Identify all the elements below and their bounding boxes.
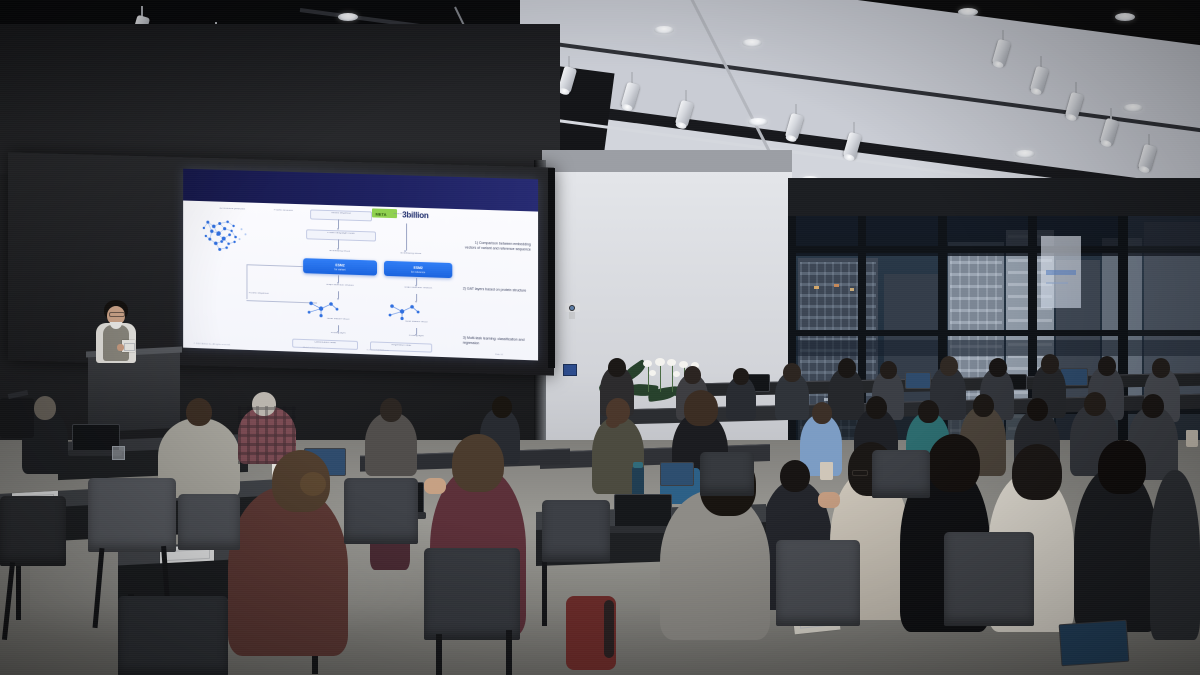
coffee-cup: [1186, 430, 1198, 447]
conference-camera-icon: [565, 303, 580, 312]
protein-structure-graph: [194, 212, 263, 262]
flow-node: Protein sequence: [232, 290, 285, 299]
flow-node-label: Graph attention network: [311, 284, 369, 289]
lit-window: [834, 284, 839, 287]
attendee-head: [1152, 358, 1170, 378]
orchid-bloom: [667, 359, 676, 366]
presentation-slide: 1. Model Architecture META 3billion: [183, 169, 538, 361]
flow-node-label: Reference sequence: [385, 213, 426, 217]
chair: [944, 532, 1034, 626]
flow-node: Reference sequence: [384, 212, 427, 222]
flow-node: Graph attention network: [310, 283, 370, 292]
flow-node-label: Graph attention network: [389, 286, 448, 291]
model-box-subtitle: for variant: [303, 267, 377, 272]
recessed-downlight: [1115, 13, 1135, 21]
recessed-downlight: [338, 13, 358, 21]
window-header-soffit: [788, 178, 1200, 216]
recessed-downlight: [742, 39, 762, 47]
chair: [872, 450, 930, 498]
recessed-downlight: [1123, 104, 1143, 112]
laptop: [905, 372, 931, 389]
flow-arrow: [416, 328, 417, 334]
attendee-head: [380, 398, 402, 422]
slide-footer-contact: ai-research@3billion.io: [367, 349, 389, 352]
flow-node-label: Embedding vector: [382, 252, 441, 257]
flow-arrow: [416, 278, 417, 285]
slide-footer-section: Model architecture: [303, 347, 321, 350]
orchid-bloom: [673, 371, 680, 377]
attendee-head: [880, 361, 897, 379]
recessed-downlight: [958, 8, 978, 16]
flow-node: Pooling layer: [388, 333, 445, 341]
coffee-cup: [820, 462, 833, 480]
glass-reflection-detail: [1046, 270, 1076, 275]
attendee-head: [780, 460, 810, 492]
flow-connector: [246, 264, 302, 266]
attendee-head: [783, 363, 801, 382]
flow-arrow: [416, 294, 417, 301]
lit-window: [850, 288, 854, 291]
attendee-hair-bun: [300, 472, 326, 496]
attendee-head: [989, 358, 1007, 377]
presenter-hand: [117, 344, 124, 351]
presenter: [86, 300, 146, 362]
attendee-head: [973, 394, 994, 417]
orchid-stem: [672, 363, 673, 392]
attendee-hand: [818, 492, 840, 508]
chair: [776, 540, 860, 626]
chair: [700, 452, 754, 496]
chair: [178, 494, 240, 550]
orchid-bloom: [649, 370, 656, 376]
attendee-head: [1098, 356, 1116, 376]
lit-window: [814, 286, 819, 289]
screen-bezel: [548, 168, 555, 368]
flow-node-label: Pooling layer: [311, 331, 366, 336]
flow-node-label: Protein language model: [308, 231, 373, 236]
wall-soffit: [542, 150, 792, 172]
flow-node: Embedding vector: [381, 251, 442, 260]
attendee-head: [866, 396, 887, 419]
attendee-head: [812, 402, 832, 424]
chair: [344, 478, 418, 544]
recessed-downlight: [748, 118, 768, 126]
flow-node-label: Regression head: [372, 344, 431, 349]
presenter-glasses-icon: [109, 312, 125, 317]
model-box-subtitle: for reference: [384, 270, 452, 275]
attendee-hair: [1012, 444, 1062, 500]
flow-node-label: Embedding vector: [307, 249, 372, 254]
bottle-cap: [633, 462, 643, 468]
recessed-downlight: [1015, 150, 1035, 158]
chair: [542, 500, 610, 562]
flow-node-label: Pooling layer: [389, 334, 444, 339]
flow-node-label: Node feature vector: [307, 318, 369, 323]
attendee-head: [1041, 354, 1059, 374]
slide-bullet: 1) Comparison between embedding vectors …: [463, 240, 531, 252]
attendee-head: [492, 396, 512, 418]
flow-node-label: Protein structure: [268, 210, 298, 214]
flow-node: Embedding vector: [306, 248, 373, 258]
slide-body: META 3billion: [183, 200, 538, 360]
laptop: [1059, 620, 1130, 667]
attendee-hand: [424, 478, 446, 494]
orchid-stem: [648, 364, 649, 392]
slide-page-number: Slide 04: [495, 354, 503, 356]
attendee-head: [608, 358, 626, 377]
flow-node: Protein language model: [306, 229, 375, 241]
recessed-downlight: [654, 26, 674, 34]
attendee-hair-bun: [606, 416, 620, 428]
attendee-head: [186, 398, 212, 426]
attendee-glasses-icon: [852, 470, 868, 476]
flow-node-label: Variant sequence: [312, 212, 370, 217]
flow-node-label: Node feature vector: [385, 320, 447, 325]
orchid-bloom: [655, 358, 665, 366]
attendee-head: [684, 366, 701, 384]
table-leg: [542, 556, 547, 626]
drinking-glass: [112, 446, 125, 460]
chair: [88, 478, 176, 552]
chair-leg: [506, 630, 512, 675]
av-equipment: [0, 398, 34, 438]
camera-mount: [569, 312, 575, 319]
wall-placard: [563, 364, 577, 376]
chair: [0, 496, 66, 566]
attendee-head: [918, 400, 939, 423]
orchid-bloom: [643, 360, 652, 367]
laptop: [614, 494, 672, 530]
flow-node: Protein structure: [268, 209, 300, 219]
flow-node-label: Protein sequence: [233, 291, 284, 295]
flow-arrow: [406, 223, 407, 250]
attendee-hair: [452, 434, 504, 492]
slide-bullet: 2) GAT layers based on protein structure: [463, 286, 535, 294]
slide-bullet: 3) Multi-task learning: classification a…: [463, 335, 535, 348]
flow-node: Pooling layer: [310, 330, 367, 338]
flow-node-label: Classification head: [294, 341, 356, 346]
wall-ceiling-edge: [0, 24, 560, 174]
backpack-strap: [604, 600, 614, 658]
chair: [118, 596, 228, 675]
model-box: ESM2 for reference: [384, 261, 452, 278]
attendee-hair: [1098, 440, 1146, 494]
attendee-head: [838, 358, 856, 378]
slide-footer-copyright: © 2024 3billion Inc. All rights reserved…: [194, 343, 231, 346]
attendee-head: [733, 368, 749, 385]
laptop: [660, 462, 694, 486]
attendee-hair: [684, 390, 718, 426]
orchid-stem: [660, 362, 661, 392]
conference-room-photo: 1. Model Architecture META 3billion: [0, 0, 1200, 675]
glass-reflection-detail: [1046, 282, 1068, 284]
attendee-hair: [928, 434, 980, 492]
attendee: [228, 486, 348, 656]
attendee-head: [34, 396, 56, 420]
attendee-head: [940, 356, 958, 376]
attendee-head: [1027, 398, 1048, 421]
attendee: [1150, 470, 1200, 640]
chair: [424, 548, 520, 640]
attendee-head: [1084, 392, 1106, 416]
model-box: ESM2 for variant: [303, 259, 377, 276]
attendee-head: [1142, 394, 1164, 418]
chair-leg: [436, 634, 442, 675]
flow-node: Variant sequence: [310, 210, 372, 221]
flow-node: Graph attention network: [388, 285, 449, 294]
flow-node-label: 3D structure prediction: [205, 208, 259, 212]
